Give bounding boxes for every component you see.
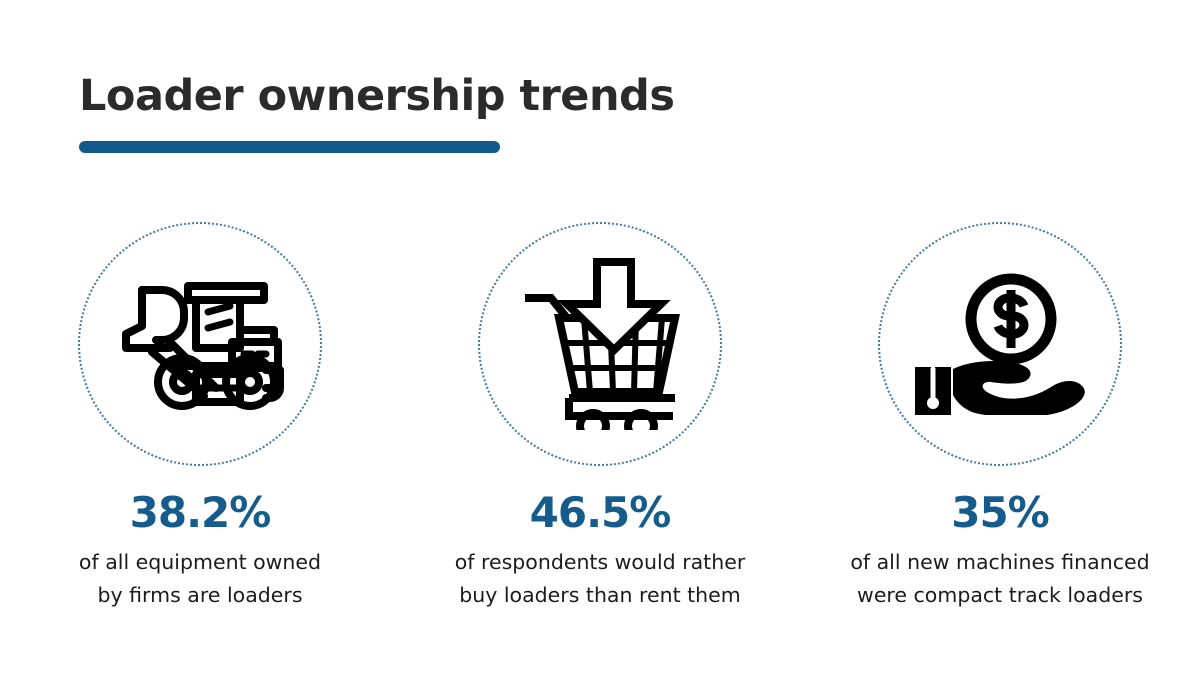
stat-card-loaders: 38.2% of all equipment owned by firms ar… (0, 222, 400, 612)
stat-card-financed: 35% of all new machines financed were co… (800, 222, 1200, 612)
page-title: Loader ownership trends (79, 74, 674, 119)
icon-circle-financed (878, 222, 1122, 466)
stats-row: 38.2% of all equipment owned by firms ar… (0, 222, 1200, 612)
stat-caption: of all equipment owned by firms are load… (79, 546, 321, 612)
stat-caption-line-1: of all new machines financed (850, 546, 1149, 579)
stat-caption-line-2: buy loaders than rent them (455, 579, 746, 612)
stat-caption-line-1: of respondents would rather (455, 546, 746, 579)
stat-caption-line-1: of all equipment owned (79, 546, 321, 579)
wheel-loader-icon (112, 278, 288, 410)
icon-circle-loaders (78, 222, 322, 466)
stat-value: 35% (951, 492, 1049, 534)
title-underline-rule (79, 141, 500, 153)
stat-value: 46.5% (530, 492, 671, 534)
stat-caption: of all new machines financed were compac… (850, 546, 1149, 612)
stat-caption-line-2: were compact track loaders (850, 579, 1149, 612)
hand-holding-dollar-coin-icon (911, 273, 1089, 415)
header: Loader ownership trends (79, 74, 674, 153)
stat-caption: of respondents would rather buy loaders … (455, 546, 746, 612)
stat-card-buy-vs-rent: 46.5% of respondents would rather buy lo… (400, 222, 800, 612)
icon-circle-buy-vs-rent (478, 222, 722, 466)
shopping-cart-download-icon (519, 258, 681, 430)
stat-value: 38.2% (130, 492, 271, 534)
stat-caption-line-2: by firms are loaders (79, 579, 321, 612)
